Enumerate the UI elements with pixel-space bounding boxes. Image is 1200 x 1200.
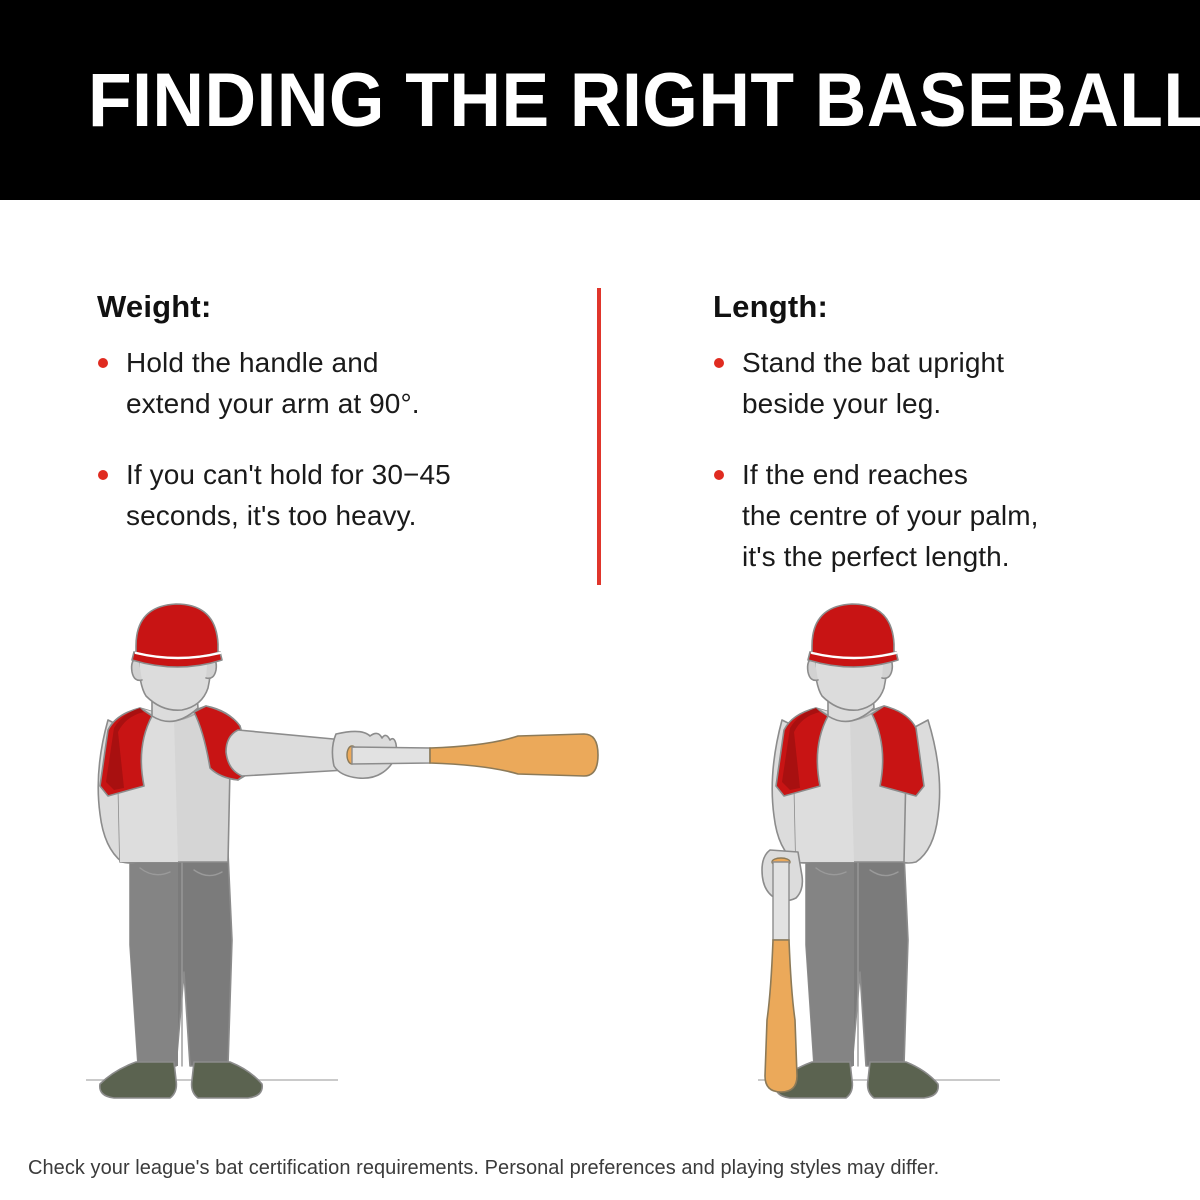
- column-length: Length: Stand the bat upright beside you…: [713, 288, 1113, 577]
- bat-barrel: [765, 940, 797, 1092]
- bullet-dot-icon: [98, 470, 108, 480]
- page-title: FINDING THE RIGHT BASEBALL BAT: [88, 58, 1066, 144]
- bat-handle: [773, 862, 789, 940]
- bat-barrel: [430, 734, 598, 776]
- shoe-right: [868, 1062, 939, 1098]
- bullet-text: Hold the handle and extend your arm at 9…: [126, 342, 567, 424]
- bullet-dot-icon: [98, 358, 108, 368]
- pants-left-leg-shade: [130, 853, 178, 1066]
- column-weight: Weight: Hold the handle and extend your …: [97, 288, 567, 536]
- bullet-text: Stand the bat upright beside your leg.: [742, 342, 1113, 424]
- pants-left-leg-shade: [806, 853, 854, 1066]
- illustration-player-bat-upright: [748, 600, 1008, 1115]
- column-divider: [597, 288, 601, 585]
- bullet-list-weight: Hold the handle and extend your arm at 9…: [97, 342, 567, 536]
- header-bar: FINDING THE RIGHT BASEBALL BAT: [0, 0, 1200, 200]
- bullet-dot-icon: [714, 470, 724, 480]
- heading-length: Length:: [713, 288, 1113, 326]
- bullet-list-length: Stand the bat upright beside your leg. I…: [713, 342, 1113, 577]
- infographic-root: FINDING THE RIGHT BASEBALL BAT Weight: H…: [0, 0, 1200, 1200]
- illustration-player-arm-extended: [78, 600, 638, 1115]
- bullet-item: Hold the handle and extend your arm at 9…: [97, 342, 567, 424]
- bullet-text: If the end reaches the centre of your pa…: [742, 454, 1113, 577]
- shoe-right: [192, 1062, 263, 1098]
- footer-note: Check your league's bat certification re…: [28, 1154, 1168, 1182]
- heading-weight: Weight:: [97, 288, 567, 326]
- cap-crown: [812, 604, 894, 661]
- cap-crown: [136, 604, 218, 661]
- bullet-item: If the end reaches the centre of your pa…: [713, 454, 1113, 577]
- shoe-left: [100, 1062, 177, 1098]
- bullet-text: If you can't hold for 30−45 seconds, it'…: [126, 454, 567, 536]
- bullet-dot-icon: [714, 358, 724, 368]
- bullet-item: Stand the bat upright beside your leg.: [713, 342, 1113, 424]
- bat-handle: [352, 747, 430, 764]
- bullet-item: If you can't hold for 30−45 seconds, it'…: [97, 454, 567, 536]
